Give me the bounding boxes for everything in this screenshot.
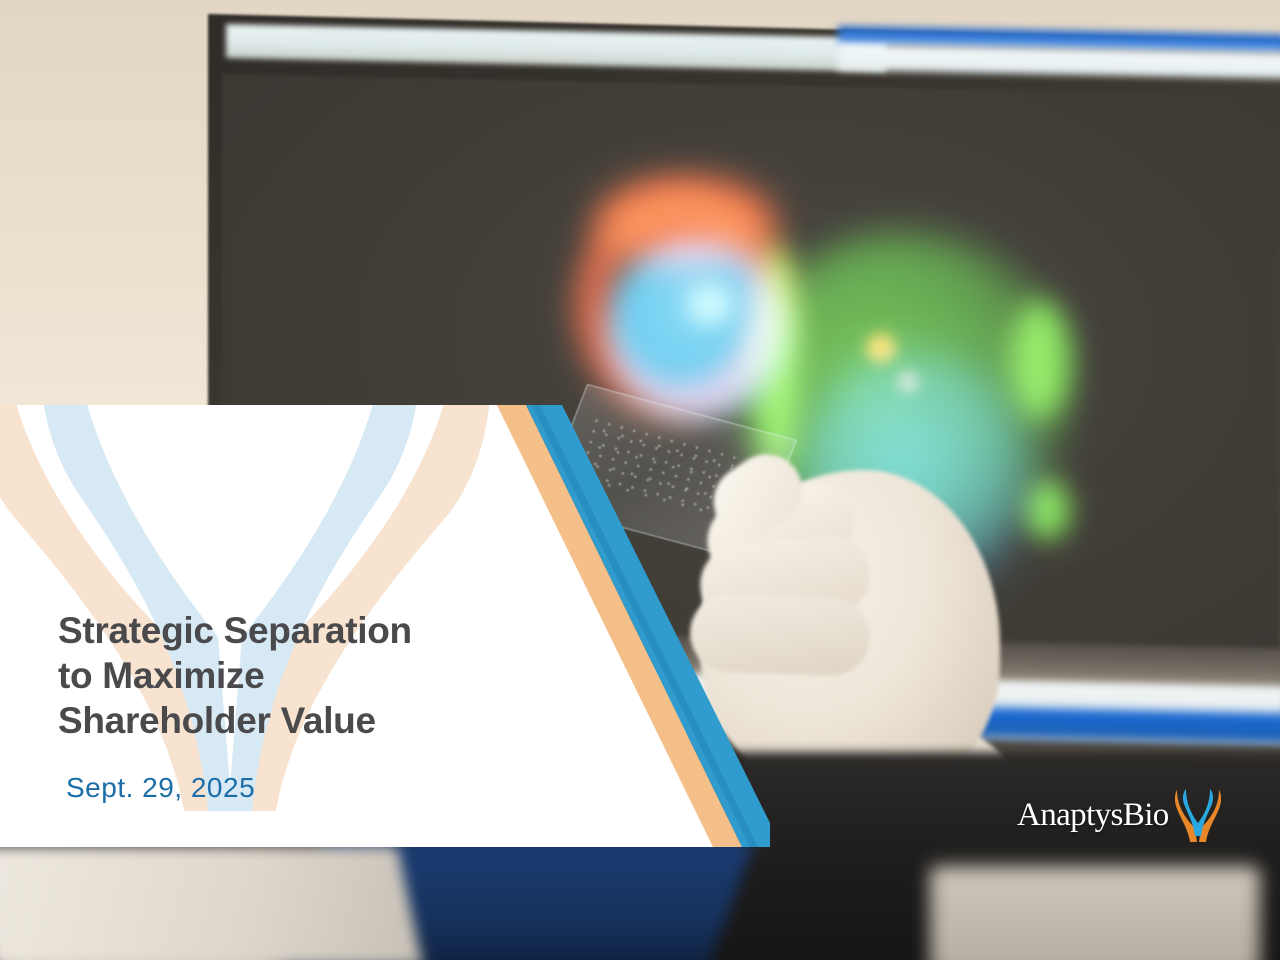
- presentation-slide: Strategic Separation to Maximize Shareho…: [0, 0, 1280, 960]
- foreground-equipment-right: [930, 866, 1260, 960]
- antibody-y-mark-icon: [1175, 788, 1221, 842]
- accent-stripe-peach: [497, 405, 742, 847]
- fluorescence-orange-dot: [866, 333, 896, 363]
- slide-date: Sept. 29, 2025: [66, 772, 255, 804]
- fluorescence-pink-dot: [898, 372, 918, 392]
- anaptysbio-logo: AnaptysBio: [1017, 788, 1221, 842]
- accent-stripe-blue-dark: [532, 405, 758, 847]
- page-title: Strategic Separation to Maximize Shareho…: [58, 608, 528, 743]
- fluorescence-green-right-1: [1010, 300, 1070, 420]
- accent-stripes: [470, 405, 770, 847]
- fluorescence-green-right-2: [1026, 480, 1070, 540]
- fluorescence-blue-highlight: [686, 282, 734, 326]
- logo-wordmark: AnaptysBio: [1017, 799, 1169, 832]
- foreground-pale-object: [0, 846, 423, 960]
